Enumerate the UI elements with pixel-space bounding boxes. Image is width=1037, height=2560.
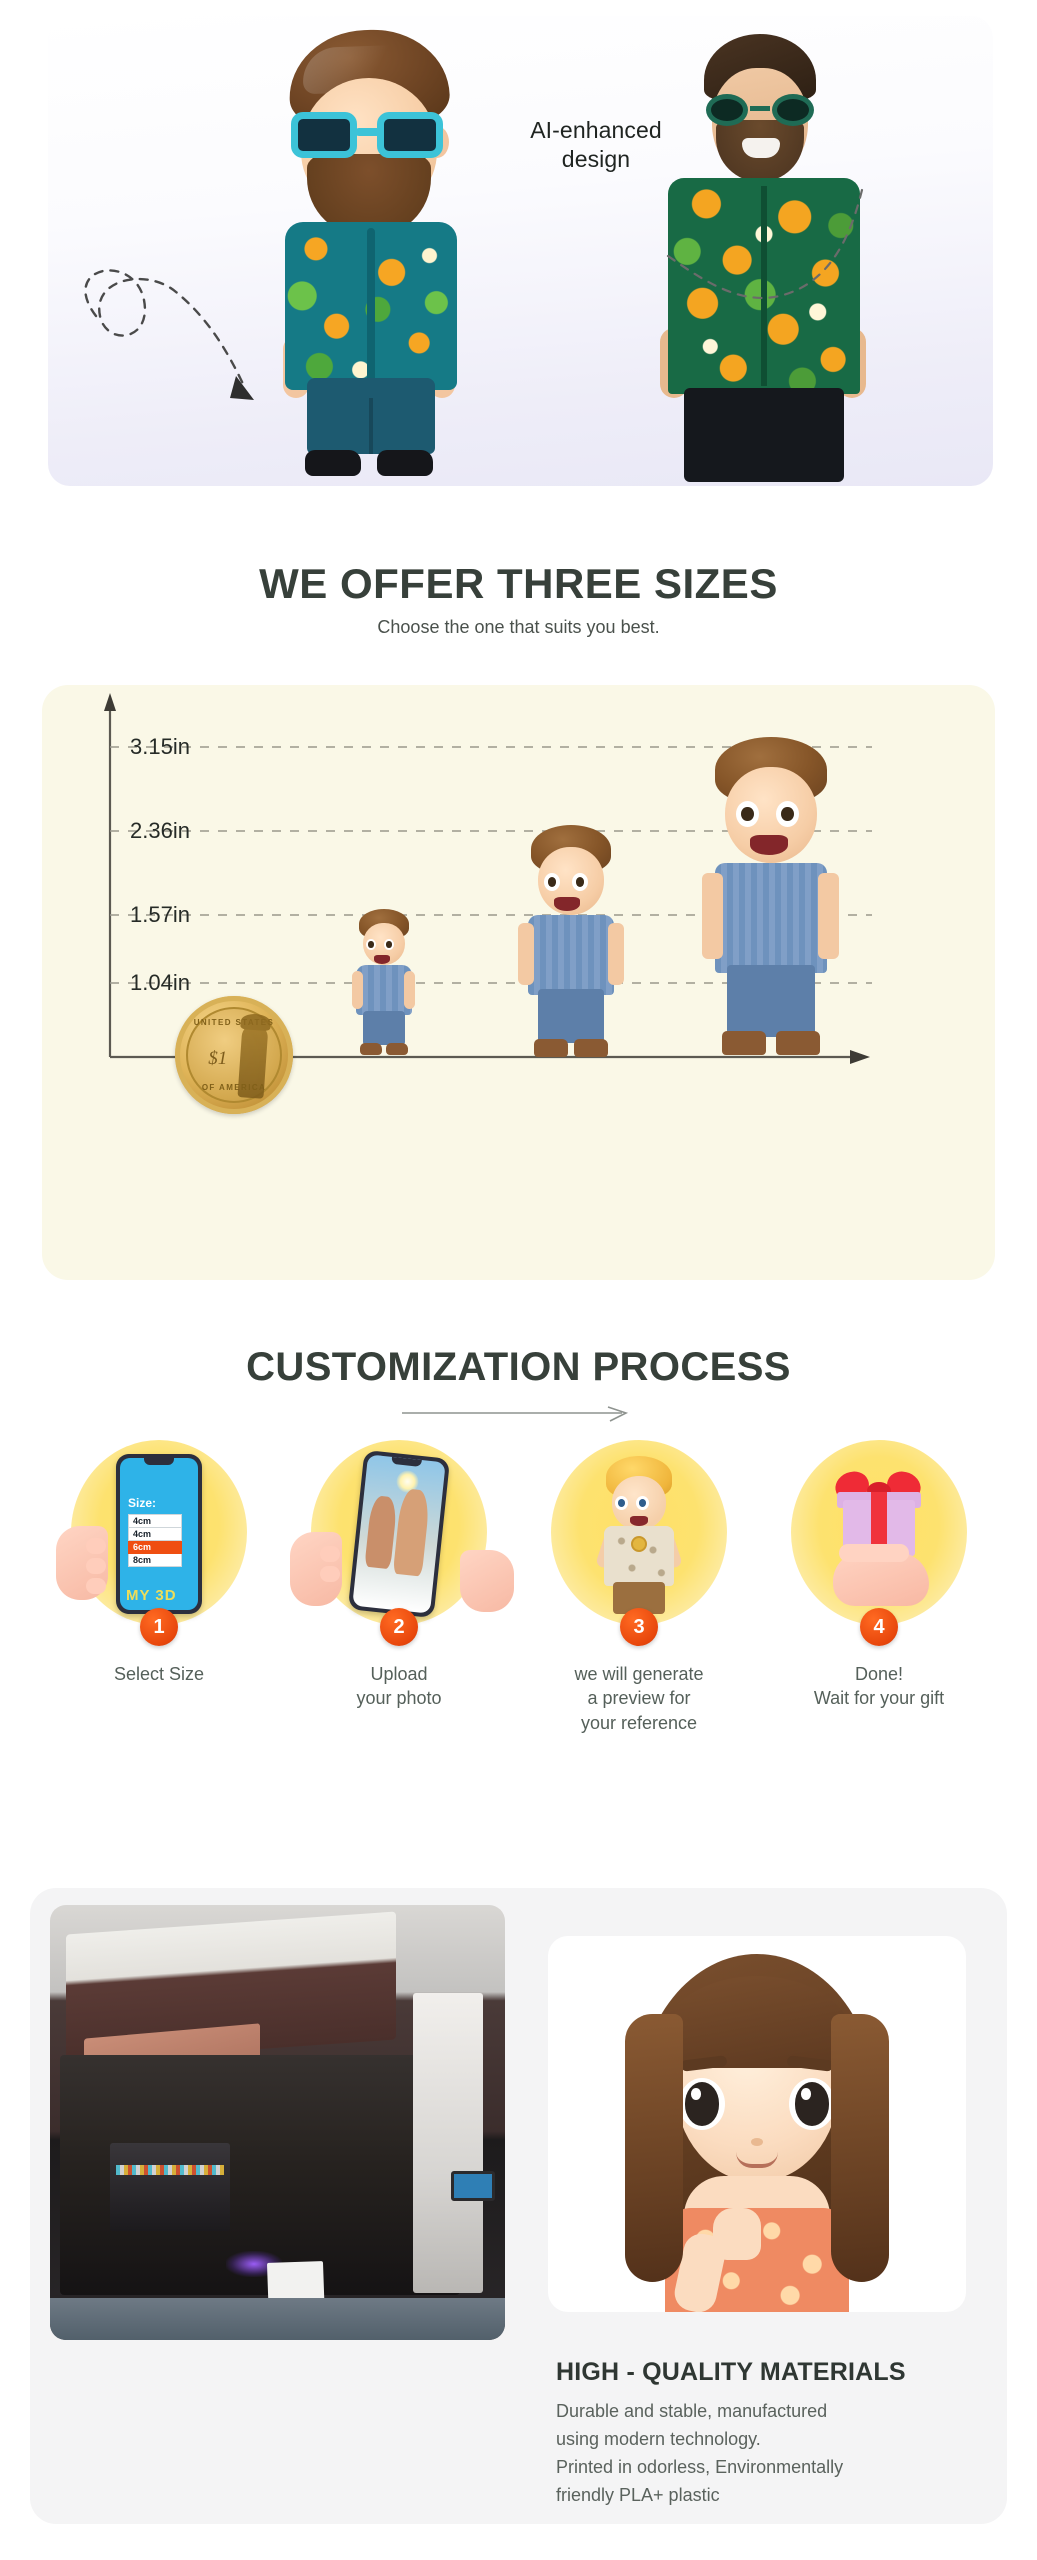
girl-hair-front-right — [831, 2014, 889, 2282]
girl-eye-right — [789, 2078, 835, 2130]
figurine-hawaiian-shirt — [285, 222, 457, 390]
large-jeans — [727, 965, 815, 1037]
size-option-2-selected[interactable]: 6cm — [128, 1541, 182, 1554]
materials-line-4: friendly PLA+ plastic — [556, 2482, 986, 2510]
step-label-1: Select Size — [44, 1662, 274, 1686]
coin-legend-bottom: OF AMERICA — [188, 1083, 280, 1092]
3d-printer-image — [50, 1905, 505, 2340]
small-shoe-right — [386, 1043, 408, 1055]
open-palm-icon — [833, 1552, 929, 1606]
medium-shoe-right — [574, 1039, 608, 1057]
phone-size-label: Size: — [128, 1496, 156, 1510]
materials-line-2: using modern technology. — [556, 2426, 986, 2454]
medium-eye-left — [544, 873, 560, 891]
pointing-hand-icon — [460, 1550, 514, 1612]
sizes-subheading: Choose the one that suits you best. — [0, 617, 1037, 638]
materials-title: HIGH - QUALITY MATERIALS — [556, 2358, 996, 2387]
ai-enhanced-callout: AI-enhanced design — [496, 116, 696, 174]
step-3-text-line2: a preview for — [524, 1686, 754, 1710]
large-arm-right — [818, 873, 839, 959]
medium-arm-right — [608, 923, 624, 985]
materials-line-3: Printed in odorless, Environmentally — [556, 2454, 986, 2482]
large-eye-right — [776, 801, 799, 827]
materials-line-1: Durable and stable, manufactured — [556, 2398, 986, 2426]
size-option-1[interactable]: 4cm — [128, 1528, 182, 1541]
step-4-text-line1: Done! — [764, 1662, 994, 1686]
finger-a — [320, 1546, 340, 1562]
small-arm-right — [404, 971, 415, 1009]
sizes-heading: WE OFFER THREE SIZES — [0, 560, 1037, 608]
step-label-2: Upload your photo — [284, 1662, 514, 1711]
medium-shoe-left — [534, 1039, 568, 1057]
step-1-text: Select Size — [44, 1662, 274, 1686]
hero-banner: AI-enhanced design — [48, 16, 993, 486]
sunglass-lens-right — [377, 112, 443, 158]
large-plaid-shirt — [715, 863, 827, 973]
hand-icon-step-2 — [290, 1532, 342, 1606]
cartoon-figurine-image — [253, 26, 483, 476]
girl-figurine-image — [617, 1954, 897, 2312]
printer-led-strip — [116, 2165, 224, 2175]
y-tick-label-3: 3.15in — [130, 734, 190, 760]
medium-plaid-shirt — [528, 915, 614, 995]
girl-hand — [713, 2208, 761, 2260]
phone-screen-1: Size: 4cm 4cm 6cm 8cm MY 3D — [120, 1458, 198, 1610]
small-shoe-left — [360, 1043, 382, 1055]
sunglasses-icon — [289, 112, 449, 158]
large-shoe-right — [776, 1031, 820, 1055]
preview-necklace — [631, 1536, 647, 1552]
y-tick-label-1: 1.57in — [130, 902, 190, 928]
size-option-3[interactable]: 8cm — [128, 1554, 182, 1567]
person-hawaiian-shirt — [668, 178, 860, 394]
step-3-text-line3: your reference — [524, 1711, 754, 1735]
small-eye-left — [366, 939, 376, 950]
y-tick-label-0: 1.04in — [130, 970, 190, 996]
small-jeans — [363, 1011, 405, 1045]
preview-jacket — [604, 1526, 674, 1586]
person-lens-bridge — [750, 106, 770, 111]
step-3-text-line1: we will generate — [524, 1662, 754, 1686]
phone-screen-2 — [352, 1454, 445, 1613]
girl-hair-front-left — [625, 2014, 683, 2282]
coin-face-value: $1 — [208, 1048, 227, 1070]
phone-photo-icon — [348, 1450, 450, 1618]
size-options-list[interactable]: 4cm 4cm 6cm 8cm — [128, 1514, 182, 1567]
finger-1 — [86, 1538, 106, 1554]
person-lens-left — [706, 94, 748, 126]
small-arm-left — [352, 971, 363, 1009]
coin-inner-ring: UNITED STATES $1 OF AMERICA — [186, 1007, 282, 1103]
girl-figurine-card — [548, 1936, 966, 2312]
step-2-text-line1: Upload — [284, 1662, 514, 1686]
callout-line-2: design — [496, 145, 696, 174]
phone-notch-2 — [391, 1457, 422, 1467]
figurine-medium — [496, 825, 646, 1057]
hand-icon-step-1 — [56, 1526, 108, 1600]
figurine-small — [334, 909, 434, 1057]
finger-3 — [86, 1578, 106, 1594]
large-shoe-left — [722, 1031, 766, 1055]
small-eye-right — [384, 939, 394, 950]
printer-floor — [50, 2298, 505, 2340]
figurine-shoe-right — [377, 450, 433, 476]
printer-side-tower — [413, 1993, 483, 2293]
step-number-1: 1 — [140, 1608, 178, 1646]
y-tick-label-2: 2.36in — [130, 818, 190, 844]
materials-description: Durable and stable, manufactured using m… — [556, 2398, 986, 2510]
process-flow-arrow — [400, 1405, 640, 1427]
girl-eye-left — [679, 2078, 725, 2130]
figurine-shoe-left — [305, 450, 361, 476]
preview-eye-left — [615, 1496, 628, 1510]
printer-control-screen — [451, 2171, 495, 2201]
person-pants — [684, 388, 844, 482]
finger-b — [320, 1566, 340, 1582]
person-lens-right — [772, 94, 814, 126]
step-label-3: we will generate a preview for your refe… — [524, 1662, 754, 1735]
sun-icon — [396, 1470, 420, 1494]
process-heading: CUSTOMIZATION PROCESS — [0, 1345, 1037, 1390]
phone-size-picker-icon: Size: 4cm 4cm 6cm 8cm MY 3D — [116, 1454, 202, 1614]
person-sunglasses-icon — [704, 94, 816, 126]
large-eye-left — [736, 801, 759, 827]
size-comparison-chart: 3.15in 2.36in 1.57in 1.04in UNITED STATE… — [42, 685, 995, 1280]
phone-notch-1 — [144, 1458, 174, 1465]
process-steps: Size: 4cm 4cm 6cm 8cm MY 3D 1 Select Siz… — [44, 1440, 994, 1700]
girl-nose — [751, 2138, 763, 2146]
finger-2 — [86, 1558, 106, 1574]
medium-eye-right — [572, 873, 588, 891]
step-number-3: 3 — [620, 1608, 658, 1646]
step-label-4: Done! Wait for your gift — [764, 1662, 994, 1711]
medium-jeans — [538, 989, 604, 1043]
sunglass-lens-left — [291, 112, 357, 158]
large-arm-left — [702, 873, 723, 959]
printer-print-head-unit — [110, 2143, 230, 2231]
small-mouth — [374, 955, 390, 964]
step-number-2: 2 — [380, 1608, 418, 1646]
real-person-photo — [638, 28, 888, 478]
size-option-0[interactable]: 4cm — [128, 1514, 182, 1528]
step-number-4: 4 — [860, 1608, 898, 1646]
large-mouth — [750, 835, 788, 855]
step-4-text-line2: Wait for your gift — [764, 1686, 994, 1710]
figurine-large — [676, 737, 866, 1057]
callout-line-1: AI-enhanced — [496, 116, 696, 145]
medium-mouth — [554, 897, 580, 911]
figurine-pants — [307, 378, 435, 454]
person-mouth — [742, 138, 780, 158]
medium-arm-left — [518, 923, 534, 985]
step-2-text-line2: your photo — [284, 1686, 514, 1710]
phone-watermark: MY 3D — [126, 1587, 177, 1604]
gift-box-icon — [819, 1466, 939, 1616]
preview-eye-right — [636, 1496, 649, 1510]
figurine-preview-icon — [584, 1456, 694, 1616]
preview-mouth — [630, 1516, 648, 1526]
dollar-coin-reference: UNITED STATES $1 OF AMERICA — [175, 996, 293, 1114]
